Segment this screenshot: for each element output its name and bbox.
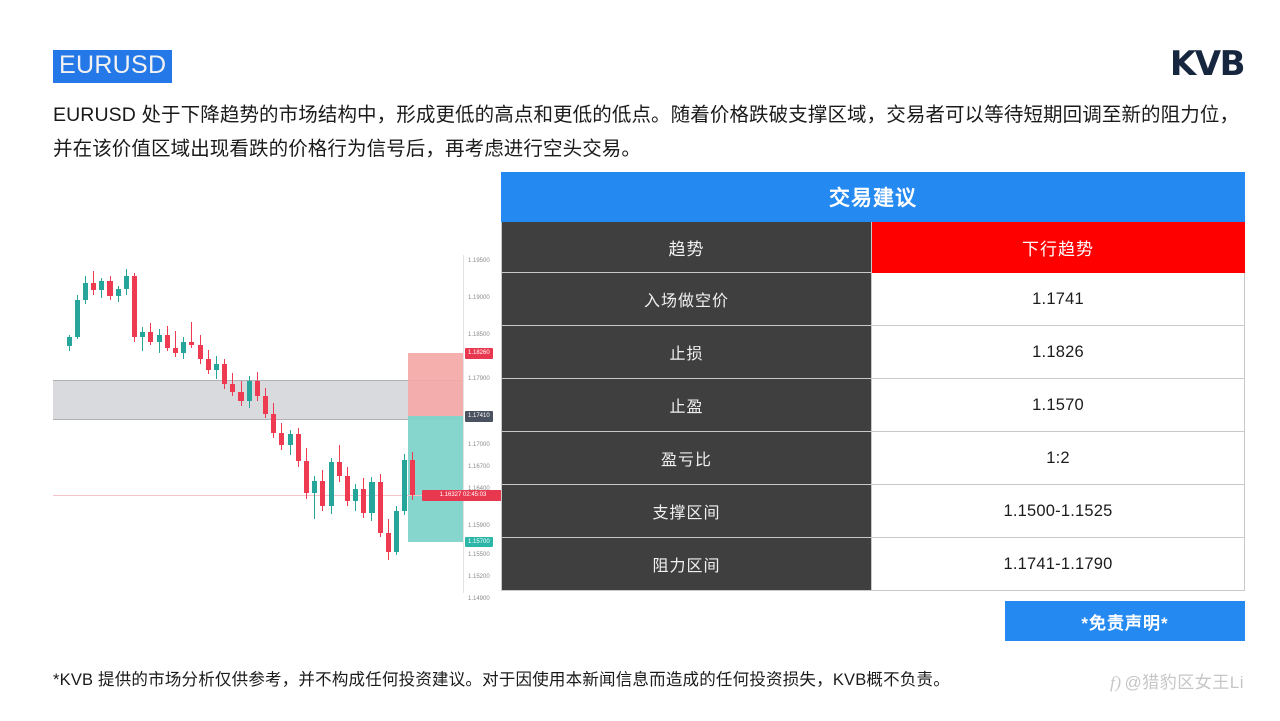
candle-body (312, 481, 317, 493)
candle-body (238, 392, 243, 402)
candle-body (263, 396, 268, 414)
candle-body (124, 276, 129, 288)
axis-tick-label: 1.16700 (468, 464, 490, 470)
candle-body (230, 384, 235, 392)
watermark: f)@猎豹区女王Li (1110, 668, 1244, 693)
candle-body (279, 433, 284, 445)
risk-zone (408, 353, 463, 415)
current-price-price-tag[interactable]: 1.16327 02:45:03 (422, 490, 504, 501)
row-value: 1.1500-1.1525 (872, 485, 1245, 538)
footer-disclaimer-text: *KVB 提供的市场分析仅供参考，并不构成任何投资建议。对于因使用本新闻信息而造… (53, 666, 950, 690)
axis-tick-label: 1.15900 (468, 523, 490, 529)
candle-body (369, 482, 374, 513)
trend-label: 趋势 (502, 222, 872, 273)
table-row: 趋势 下行趋势 (502, 222, 1245, 273)
take-profit-price-tag[interactable]: 1.15700 (465, 537, 493, 548)
axis-tick-label: 1.15500 (468, 552, 490, 558)
candle-body (83, 283, 88, 300)
candle-body (189, 342, 194, 345)
table-title-row: 交易建议 (502, 173, 1245, 222)
candle-body (165, 335, 170, 347)
price-chart[interactable]: 1.195001.190001.185001.179001.170001.167… (53, 255, 508, 593)
candle-body (386, 533, 391, 552)
axis-tick-label: 1.19000 (468, 295, 490, 301)
candle-body (198, 345, 203, 359)
kvb-logo: KVB (1170, 44, 1244, 84)
row-label: 阻力区间 (502, 538, 872, 591)
candle-body (140, 332, 145, 337)
candle-body (75, 300, 80, 337)
row-value: 1.1826 (872, 326, 1245, 379)
candle-body (410, 460, 415, 495)
row-label: 止盈 (502, 379, 872, 432)
row-label: 支撑区间 (502, 485, 872, 538)
candle-body (345, 476, 350, 501)
candle-body (132, 276, 137, 337)
row-value: 1:2 (872, 432, 1245, 485)
candle-body (157, 335, 162, 342)
candle-body (247, 381, 252, 402)
candle-body (107, 281, 112, 296)
row-value: 1.1741 (872, 273, 1245, 326)
axis-tick-label: 1.17900 (468, 376, 490, 382)
candle-body (206, 359, 211, 370)
axis-tick-label: 1.15200 (468, 574, 490, 580)
axis-tick-label: 1.19500 (468, 258, 490, 264)
table-row: 止盈 1.1570 (502, 379, 1245, 432)
row-label: 盈亏比 (502, 432, 872, 485)
candle-body (394, 511, 399, 552)
candle-body (91, 283, 96, 290)
candle-body (378, 482, 383, 533)
table-row: 入场做空价 1.1741 (502, 273, 1245, 326)
analysis-description: EURUSD 处于下降趋势的市场结构中，形成更低的高点和更低的低点。随着价格跌破… (53, 98, 1243, 166)
candle-body (255, 381, 260, 396)
candle-body (181, 342, 186, 354)
candle-body (116, 289, 121, 296)
candle-wick (142, 327, 143, 351)
candle-body (214, 364, 219, 370)
axis-tick-label: 1.17000 (468, 442, 490, 448)
reward-zone (408, 416, 463, 542)
watermark-handle: @猎豹区女王Li (1125, 673, 1245, 692)
page-title: EURUSD (53, 50, 172, 83)
entry-price-tag[interactable]: 1.17410 (465, 411, 493, 422)
candle-body (353, 489, 358, 501)
candle-body (271, 414, 276, 433)
candle-body (337, 462, 342, 476)
candle-body (148, 332, 153, 342)
candle-body (222, 364, 227, 384)
candle-body (67, 337, 72, 347)
table-title: 交易建议 (502, 173, 1245, 222)
candle-body (361, 489, 366, 513)
candle-body (402, 460, 407, 511)
row-value: 1.1570 (872, 379, 1245, 432)
candle-body (304, 461, 309, 493)
axis-tick-label: 1.14900 (468, 596, 490, 602)
candle-body (173, 348, 178, 354)
facebook-icon: f) (1110, 673, 1121, 692)
table-row: 盈亏比 1:2 (502, 432, 1245, 485)
trend-value: 下行趋势 (872, 222, 1245, 273)
trade-recommendation-table: 交易建议 趋势 下行趋势 入场做空价 1.1741 止损 1.1826 止盈 1… (501, 172, 1245, 591)
axis-tick-label: 1.18500 (468, 332, 490, 338)
table-row: 止损 1.1826 (502, 326, 1245, 379)
candle-body (99, 281, 104, 290)
row-label: 入场做空价 (502, 273, 872, 326)
slide-root: EURUSD KVB EURUSD 处于下降趋势的市场结构中，形成更低的高点和更… (0, 0, 1280, 721)
candle-body (288, 434, 293, 445)
candlestick-canvas[interactable] (53, 255, 463, 593)
stop-loss-price-tag[interactable]: 1.18260 (465, 348, 493, 359)
table-row: 阻力区间 1.1741-1.1790 (502, 538, 1245, 591)
candle-body (320, 481, 325, 505)
candle-body (296, 434, 301, 461)
table-row: 支撑区间 1.1500-1.1525 (502, 485, 1245, 538)
disclaimer-button[interactable]: *免责声明* (1005, 601, 1245, 641)
candle-body (329, 462, 334, 505)
row-value: 1.1741-1.1790 (872, 538, 1245, 591)
row-label: 止损 (502, 326, 872, 379)
